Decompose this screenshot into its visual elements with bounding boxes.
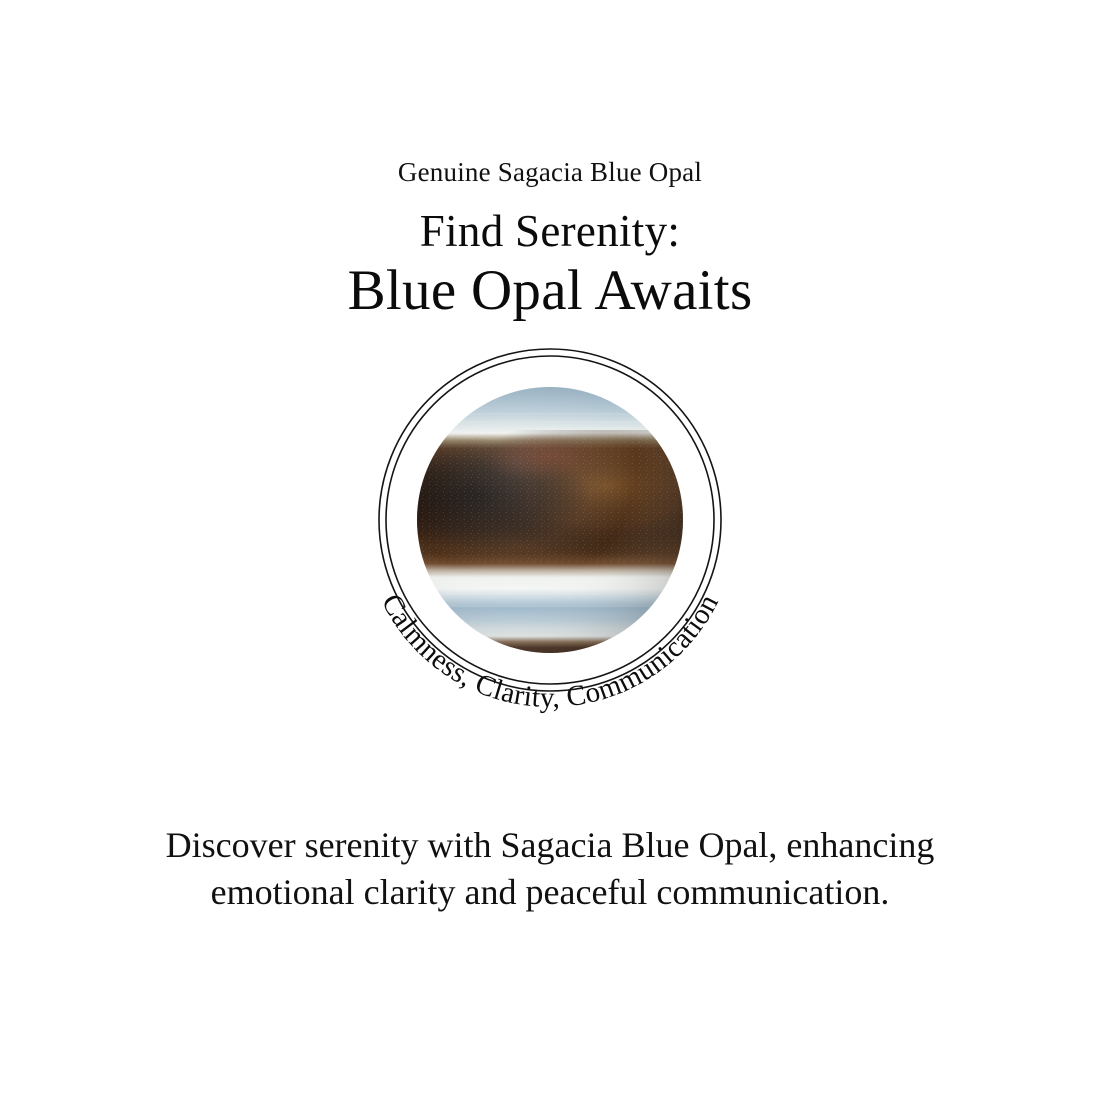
promo-poster: Genuine Sagacia Blue Opal Find Serenity:…: [0, 0, 1100, 1100]
headline-line-2: Blue Opal Awaits: [348, 261, 753, 321]
body-copy-line-1: Discover serenity with Sagacia Blue Opal…: [70, 822, 1030, 869]
gemstone-badge: Calmness, Clarity, Communication: [330, 350, 770, 750]
eyebrow-text: Genuine Sagacia Blue Opal: [398, 158, 702, 188]
page-title: Find Serenity: Blue Opal Awaits: [348, 208, 753, 322]
badge-graphic: Calmness, Clarity, Communication: [330, 350, 770, 750]
body-copy: Discover serenity with Sagacia Blue Opal…: [70, 822, 1030, 916]
headline-line-1: Find Serenity:: [348, 208, 753, 256]
gemstone-image: [410, 380, 690, 662]
body-copy-line-2: emotional clarity and peaceful communica…: [70, 869, 1030, 916]
